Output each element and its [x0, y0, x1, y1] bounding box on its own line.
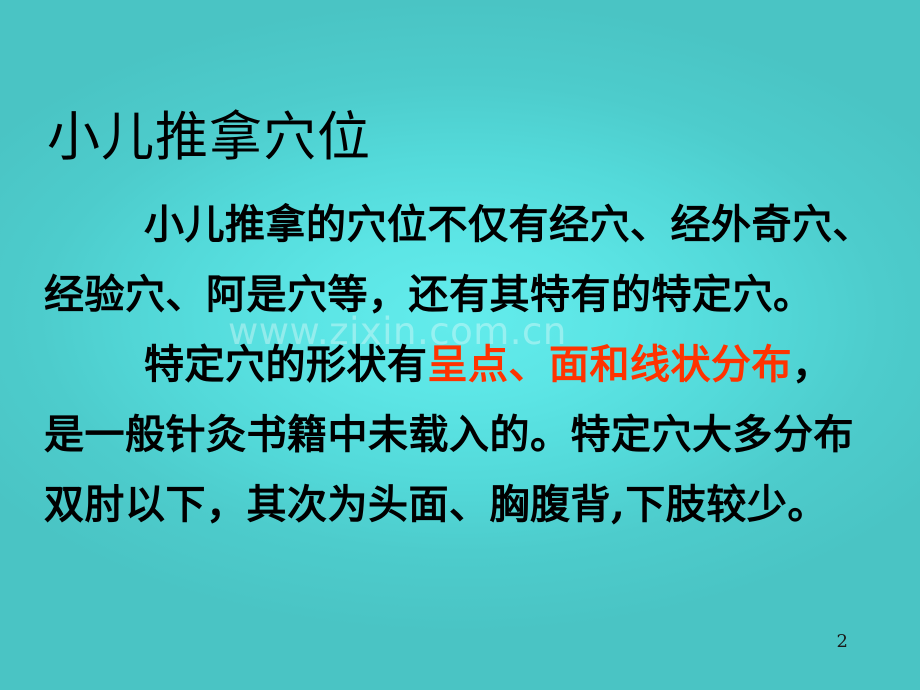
slide-body-text: 小儿推拿的穴位不仅有经穴、经外奇穴、经验穴、阿是穴等，还有其特有的特定穴。特定穴… [44, 190, 884, 540]
page-number: 2 [837, 632, 848, 652]
text-run: 特定穴的形状有 [144, 341, 428, 388]
text-run: 经验穴、阿是穴等，还有其特有的特定穴。 [44, 271, 814, 318]
body-line: 双肘以下，其次为头面、胸腹背,下肢较少。 [44, 470, 884, 540]
highlighted-text-run: 呈点、面和线状分布 [428, 341, 793, 388]
body-line: 经验穴、阿是穴等，还有其特有的特定穴。 [44, 260, 884, 330]
body-line: 是一般针灸书籍中未载入的。特定穴大多分布 [44, 400, 884, 470]
text-run: 双肘以下，其次为头面、胸腹背,下肢较少。 [44, 481, 828, 528]
body-line: 特定穴的形状有呈点、面和线状分布， [44, 330, 884, 400]
slide-title: 小儿推拿穴位 [47, 106, 371, 170]
presentation-slide: www.zixin.com.cn 小儿推拿穴位 小儿推拿的穴位不仅有经穴、经外奇… [0, 0, 920, 690]
text-run: 小儿推拿的穴位不仅有经穴、经外奇穴、 [144, 201, 873, 248]
body-line: 小儿推拿的穴位不仅有经穴、经外奇穴、 [44, 190, 884, 260]
text-run: ， [792, 341, 833, 388]
text-run: 是一般针灸书籍中未载入的。特定穴大多分布 [44, 411, 854, 458]
